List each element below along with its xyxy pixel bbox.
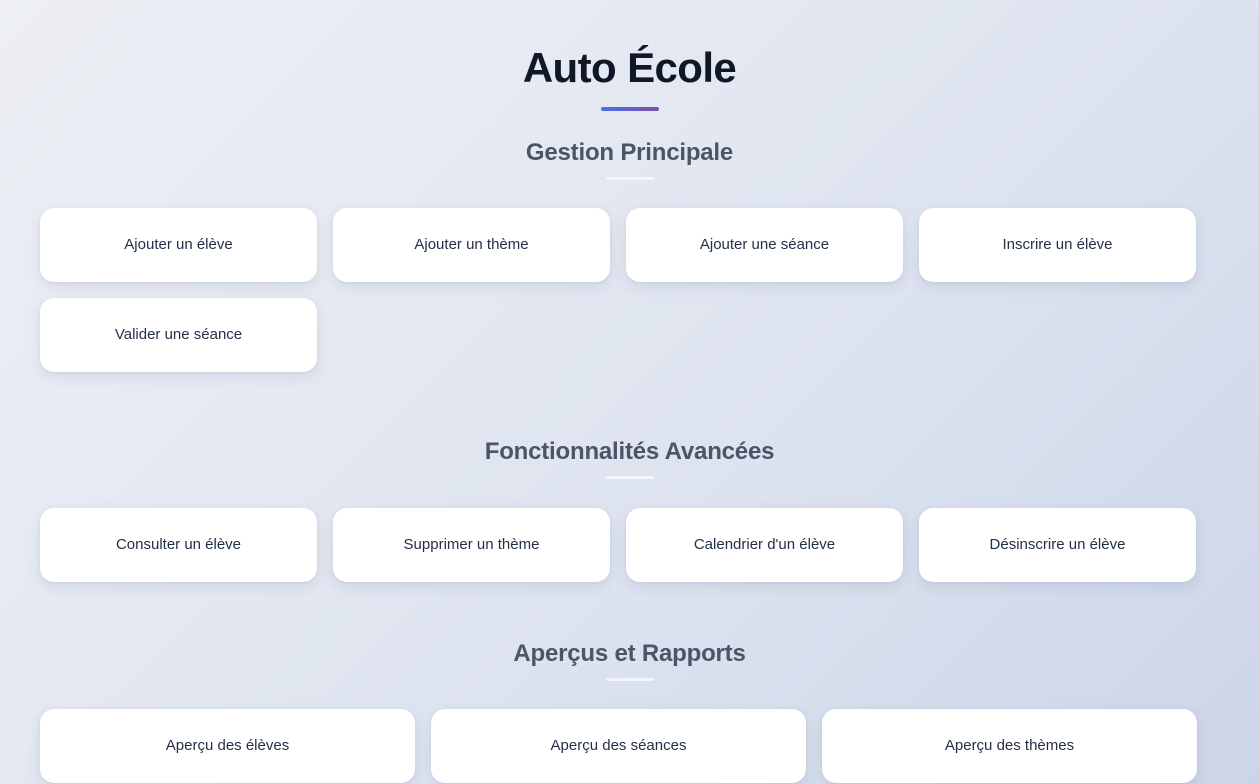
- card-ajouter-un-theme[interactable]: Ajouter un thème: [333, 208, 610, 282]
- card-label: Aperçu des élèves: [166, 736, 289, 756]
- card-apercu-des-eleves[interactable]: Aperçu des élèves: [40, 709, 415, 783]
- section-fonctionnalites-avancees: Fonctionnalités Avancées Consulter un él…: [40, 437, 1219, 582]
- card-grid-gestion-principale: Ajouter un élève Ajouter un thème Ajoute…: [40, 208, 1219, 372]
- section-divider: [606, 678, 654, 681]
- card-label: Ajouter un thème: [414, 235, 528, 255]
- card-apercu-des-themes[interactable]: Aperçu des thèmes: [822, 709, 1197, 783]
- section-apercus-et-rapports: Aperçus et Rapports Aperçu des élèves Ap…: [40, 639, 1219, 783]
- card-consulter-un-eleve[interactable]: Consulter un élève: [40, 508, 317, 582]
- card-ajouter-un-eleve[interactable]: Ajouter un élève: [40, 208, 317, 282]
- app-root: Auto École Gestion Principale Ajouter un…: [0, 0, 1259, 784]
- card-grid-apercus-et-rapports: Aperçu des élèves Aperçu des séances Ape…: [40, 709, 1219, 783]
- card-supprimer-un-theme[interactable]: Supprimer un thème: [333, 508, 610, 582]
- card-desinscrire-un-eleve[interactable]: Désinscrire un élève: [919, 508, 1196, 582]
- section-title-gestion-principale: Gestion Principale: [40, 138, 1219, 168]
- section-gestion-principale: Gestion Principale Ajouter un élève Ajou…: [40, 138, 1219, 372]
- title-accent-rule: [601, 107, 659, 111]
- card-label: Calendrier d'un élève: [694, 535, 835, 555]
- card-label: Ajouter une séance: [700, 235, 829, 255]
- card-apercu-des-seances[interactable]: Aperçu des séances: [431, 709, 806, 783]
- section-title-fonctionnalites-avancees: Fonctionnalités Avancées: [40, 437, 1219, 467]
- page-title: Auto École: [40, 42, 1219, 94]
- section-divider: [606, 177, 654, 180]
- card-label: Aperçu des séances: [551, 736, 687, 756]
- card-label: Valider une séance: [115, 325, 242, 345]
- card-label: Inscrire un élève: [1002, 235, 1112, 255]
- card-calendrier-d-un-eleve[interactable]: Calendrier d'un élève: [626, 508, 903, 582]
- card-valider-une-seance[interactable]: Valider une séance: [40, 298, 317, 372]
- card-label: Consulter un élève: [116, 535, 241, 555]
- card-inscrire-un-eleve[interactable]: Inscrire un élève: [919, 208, 1196, 282]
- card-label: Aperçu des thèmes: [945, 736, 1074, 756]
- card-label: Ajouter un élève: [124, 235, 232, 255]
- card-label: Désinscrire un élève: [990, 535, 1126, 555]
- section-title-apercus-et-rapports: Aperçus et Rapports: [40, 639, 1219, 669]
- card-label: Supprimer un thème: [404, 535, 540, 555]
- section-divider: [606, 476, 654, 479]
- card-grid-fonctionnalites-avancees: Consulter un élève Supprimer un thème Ca…: [40, 508, 1219, 582]
- card-ajouter-une-seance[interactable]: Ajouter une séance: [626, 208, 903, 282]
